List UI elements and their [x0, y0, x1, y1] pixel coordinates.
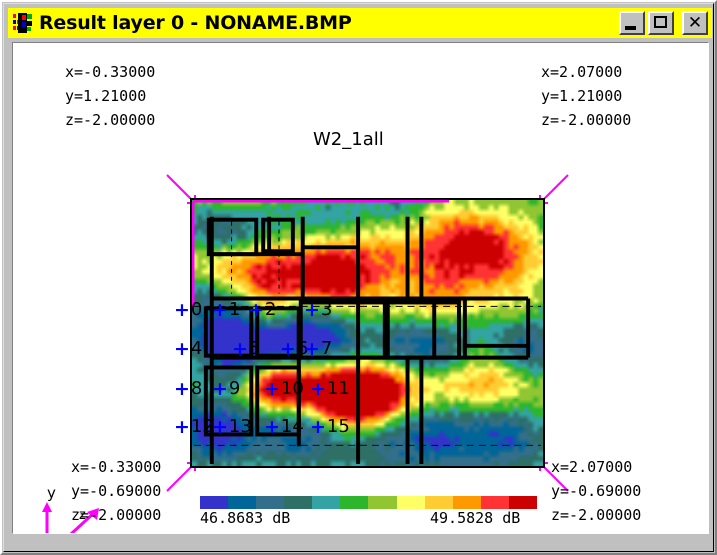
axis-label-y: y [47, 484, 56, 502]
coord-z-top-left: z=-2.00000 [65, 108, 155, 132]
colorbar-swatch-7 [397, 496, 425, 509]
coord-y-top-right: y=1.21000 [541, 84, 631, 108]
coord-x-bottom-right: x=2.07000 [551, 455, 641, 479]
probe-plus-icon: + [264, 420, 280, 434]
probe-plus-icon: + [174, 303, 190, 317]
coord-z-bottom-right: z=-2.00000 [551, 503, 641, 527]
minimize-button[interactable] [619, 11, 645, 35]
probe-point-2[interactable]: + 2 [248, 303, 276, 317]
probe-plus-icon: + [310, 420, 326, 434]
colorbar-min-label: 46.8683 dB [200, 509, 290, 527]
coords-bottom-right: x=2.07000 y=-0.69000 z=-2.00000 [551, 455, 641, 527]
title-bar[interactable]: Result layer 0 - NONAME.BMP ✕ [8, 8, 712, 38]
probe-label: 5 [249, 342, 260, 356]
window-inner-frame: Result layer 0 - NONAME.BMP ✕ x=-0.33000… [3, 3, 714, 552]
probe-plus-icon: + [232, 342, 248, 356]
probe-label: 8 [191, 382, 202, 396]
heatmap-plot[interactable]: + 0 + 1 + 2 + 3 + 4 [190, 198, 545, 468]
colorbar-swatch-4 [312, 496, 340, 509]
probe-point-1[interactable]: + 1 [212, 303, 240, 317]
colorbar-swatch-8 [425, 496, 453, 509]
probe-plus-icon: + [304, 342, 320, 356]
close-button[interactable]: ✕ [682, 11, 708, 35]
probe-label: 13 [229, 420, 252, 434]
colorbar-swatch-3 [284, 496, 312, 509]
coord-z-bottom-left: z=-2.00000 [71, 503, 161, 527]
probe-point-8[interactable]: + 8 [174, 382, 202, 396]
coords-top-right: x=2.07000 y=1.21000 z=-2.00000 [541, 60, 631, 132]
probe-point-13[interactable]: + 13 [212, 420, 252, 434]
heatmap-container[interactable]: + 0 + 1 + 2 + 3 + 4 [190, 198, 545, 468]
probe-plus-icon: + [212, 303, 228, 317]
colorbar-swatch-2 [256, 496, 284, 509]
probe-point-10[interactable]: + 10 [264, 382, 304, 396]
probe-point-15[interactable]: + 15 [310, 420, 350, 434]
colorbar[interactable] [200, 496, 537, 509]
maximize-icon [654, 16, 667, 28]
probe-plus-icon: + [174, 382, 190, 396]
colorbar-swatch-10 [481, 496, 509, 509]
probe-point-7[interactable]: + 7 [304, 342, 332, 356]
probe-point-4[interactable]: + 4 [174, 342, 202, 356]
probe-point-9[interactable]: + 9 [212, 382, 240, 396]
probe-plus-icon: + [310, 382, 326, 396]
colorbar-swatch-1 [228, 496, 256, 509]
probe-label: 10 [281, 382, 304, 396]
plot-title: W2_1all [313, 129, 384, 150]
probe-point-12[interactable]: + 12 [174, 420, 214, 434]
probe-label: 14 [281, 420, 304, 434]
maximize-button[interactable] [648, 11, 674, 35]
window-controls: ✕ [619, 11, 711, 35]
app-icon [12, 12, 34, 34]
coord-y-top-left: y=1.21000 [65, 84, 155, 108]
probe-point-3[interactable]: + 3 [304, 303, 332, 317]
coord-x-top-left: x=-0.33000 [65, 60, 155, 84]
colorbar-swatch-5 [340, 496, 368, 509]
coord-x-bottom-left: x=-0.33000 [71, 455, 161, 479]
coords-top-left: x=-0.33000 y=1.21000 z=-2.00000 [65, 60, 155, 132]
window-title: Result layer 0 - NONAME.BMP [39, 12, 352, 34]
close-icon: ✕ [684, 13, 706, 33]
probe-label: 12 [191, 420, 214, 434]
probe-plus-icon: + [304, 303, 320, 317]
axis-label-x: x [107, 532, 115, 534]
probe-plus-icon: + [280, 342, 296, 356]
coords-bottom-left: x=-0.33000 y=-0.69000 z=-2.00000 [71, 455, 161, 527]
probe-label: 1 [229, 303, 240, 317]
probe-plus-icon: + [212, 420, 228, 434]
probe-label: 2 [265, 303, 276, 317]
probe-label: 9 [229, 382, 240, 396]
coord-y-bottom-right: y=-0.69000 [551, 479, 641, 503]
probe-plus-icon: + [212, 382, 228, 396]
probe-point-0[interactable]: + 0 [174, 303, 202, 317]
colorbar-swatch-9 [453, 496, 481, 509]
probe-point-5[interactable]: + 5 [232, 342, 260, 356]
colorbar-max-label: 49.5828 dB [430, 509, 520, 527]
probe-point-14[interactable]: + 14 [264, 420, 304, 434]
coord-x-top-right: x=2.07000 [541, 60, 631, 84]
probe-label: 4 [191, 342, 202, 356]
colorbar-swatch-11 [509, 496, 537, 509]
probe-plus-icon: + [248, 303, 264, 317]
probe-plus-icon: + [174, 420, 190, 434]
probe-plus-icon: + [264, 382, 280, 396]
colorbar-swatch-0 [200, 496, 228, 509]
application-window: Result layer 0 - NONAME.BMP ✕ x=-0.33000… [0, 0, 717, 555]
probe-point-11[interactable]: + 11 [310, 382, 350, 396]
minimize-icon [625, 26, 636, 30]
coord-z-top-right: z=-2.00000 [541, 108, 631, 132]
probe-label: 0 [191, 303, 202, 317]
probe-plus-icon: + [174, 342, 190, 356]
colorbar-swatch-6 [368, 496, 396, 509]
probe-label: 11 [327, 382, 350, 396]
probe-label: 3 [321, 303, 332, 317]
probe-label: 7 [321, 342, 332, 356]
coord-y-bottom-left: y=-0.69000 [71, 479, 161, 503]
probe-label: 15 [327, 420, 350, 434]
plot-canvas: x=-0.33000 y=1.21000 z=-2.00000 x=2.0700… [12, 42, 709, 534]
